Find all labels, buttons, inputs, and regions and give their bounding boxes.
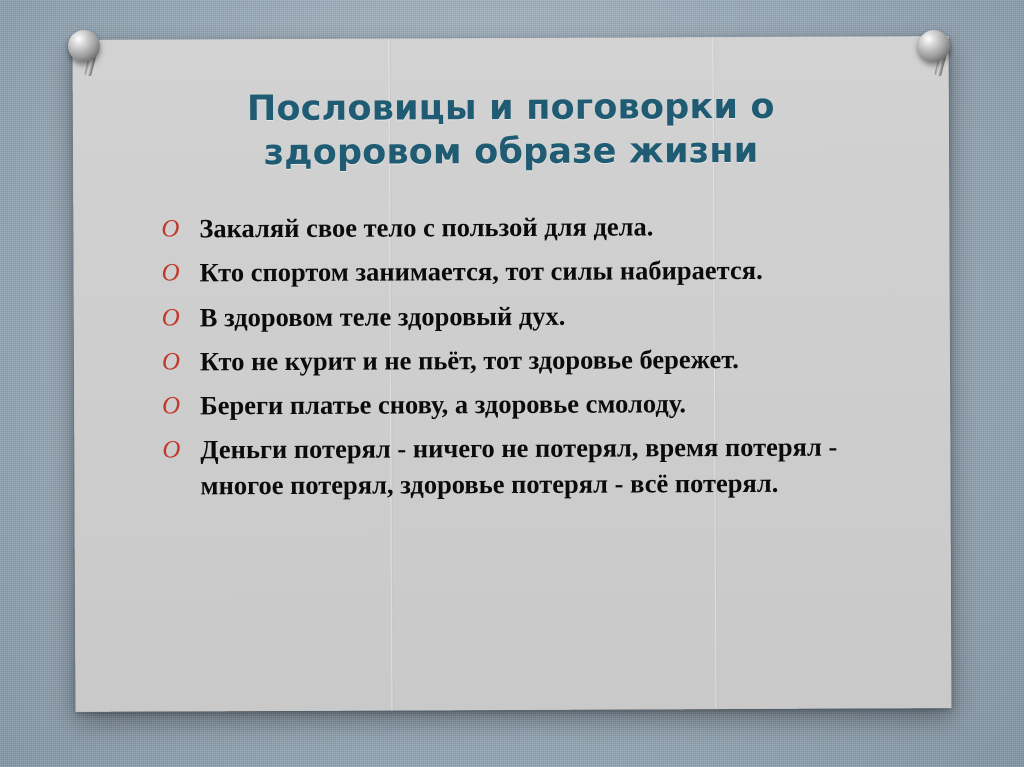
list-item-text: Деньги потерял - ничего не потерял, врем… [200, 432, 837, 500]
page-title-line-2: здоровом образе жизни [264, 131, 759, 173]
proverb-list: O Закаляй свое тело с пользой для дела. … [73, 208, 950, 503]
slide-content: Пословицы и поговорки о здоровом образе … [73, 36, 952, 712]
list-item: O Кто не курит и не пьёт, тот здоровье б… [162, 341, 896, 379]
bullet-o-icon: O [161, 257, 179, 290]
bullet-o-icon: O [162, 301, 180, 334]
bullet-o-icon: O [161, 213, 179, 246]
list-item-text: Береги платье снову, а здоровье смолоду. [200, 388, 686, 420]
list-item-text: В здоровом теле здоровый дух. [200, 300, 566, 332]
bullet-o-icon: O [162, 345, 180, 378]
bullet-o-icon: O [162, 434, 180, 467]
list-item: O Кто спортом занимается, тот силы набир… [161, 253, 895, 291]
list-item-text: Кто спортом занимается, тот силы набирае… [199, 255, 762, 287]
bullet-o-icon: O [162, 390, 180, 423]
list-item-text: Закаляй свое тело с пользой для дела. [199, 212, 653, 244]
page-title: Пословицы и поговорки о здоровом образе … [73, 36, 950, 176]
list-item-text: Кто не курит и не пьёт, тот здоровье бер… [200, 344, 739, 376]
list-item: O Деньги потерял - ничего не потерял, вр… [162, 430, 896, 504]
page-title-line-1: Пословицы и поговорки о [247, 87, 775, 129]
list-item: O В здоровом теле здоровый дух. [162, 297, 896, 335]
list-item: O Береги платье снову, а здоровье смолод… [162, 385, 896, 423]
list-item: O Закаляй свое тело с пользой для дела. [161, 209, 895, 247]
slide-canvas: Пословицы и поговорки о здоровом образе … [0, 0, 1024, 767]
